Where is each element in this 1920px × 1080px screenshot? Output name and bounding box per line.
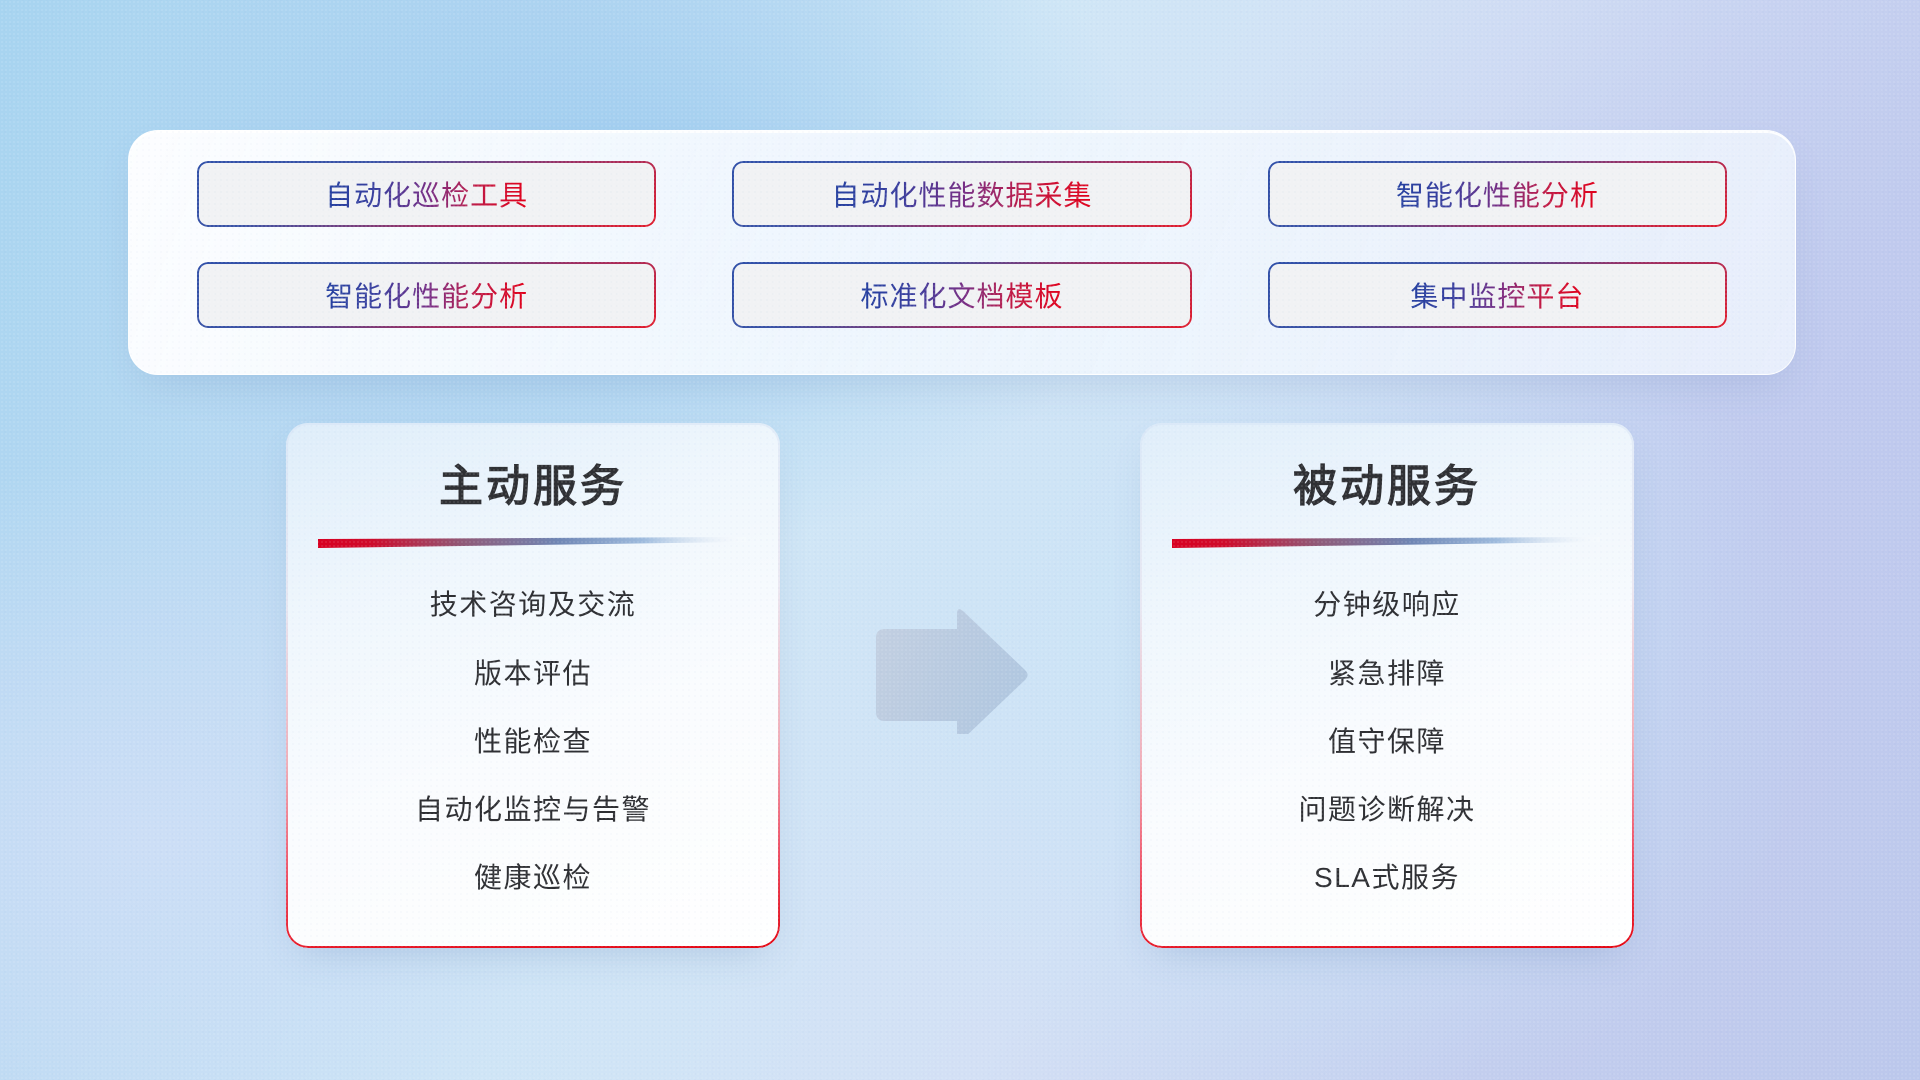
capability-pill[interactable]: 智能化性能分析 bbox=[1268, 161, 1727, 227]
service-list-item: SLA式服务 bbox=[1314, 856, 1460, 896]
service-card-passive: 被动服务 分钟级响应 紧急排障 值守保障 bbox=[1140, 423, 1634, 948]
capability-pill-label: 自动化巡检工具 bbox=[325, 174, 528, 214]
capability-pill[interactable]: 智能化性能分析 bbox=[197, 262, 656, 328]
capability-pill[interactable]: 集中监控平台 bbox=[1268, 262, 1727, 328]
capability-pill-label: 智能化性能分析 bbox=[325, 275, 528, 315]
service-list-item: 紧急排障 bbox=[1328, 652, 1446, 692]
service-list-item: 值守保障 bbox=[1328, 720, 1446, 760]
service-card-active: 主动服务 技术咨询及交流 版本评估 性能检查 bbox=[286, 423, 780, 948]
capability-pill[interactable]: 自动化巡检工具 bbox=[197, 161, 656, 227]
service-card-title: 被动服务 bbox=[1170, 463, 1604, 511]
title-divider bbox=[1172, 537, 1600, 549]
service-list-item: 技术咨询及交流 bbox=[430, 583, 637, 623]
infographic-stage: 自动化巡检工具 自动化性能数据采集 智能化性能分析 智能化性能分析 标准化文档模… bbox=[0, 0, 1920, 1080]
capability-pill[interactable]: 标准化文档模板 bbox=[732, 262, 1191, 328]
service-list-item: 健康巡检 bbox=[474, 856, 592, 896]
service-list-item: 性能检查 bbox=[474, 720, 592, 760]
capability-pill-label: 自动化性能数据采集 bbox=[831, 174, 1092, 214]
service-card-title: 主动服务 bbox=[316, 463, 750, 511]
service-item-list: 分钟级响应 紧急排障 值守保障 问题诊断解决 SLA式服务 bbox=[1170, 555, 1604, 924]
service-list-item: 版本评估 bbox=[474, 652, 592, 692]
capability-pill-label: 智能化性能分析 bbox=[1396, 174, 1599, 214]
capability-pill-label: 标准化文档模板 bbox=[860, 275, 1063, 315]
service-list-item: 分钟级响应 bbox=[1313, 583, 1461, 623]
capability-pill[interactable]: 自动化性能数据采集 bbox=[732, 161, 1191, 227]
service-list-item: 自动化监控与告警 bbox=[415, 788, 651, 828]
capability-pill-label: 集中监控平台 bbox=[1410, 275, 1584, 315]
title-divider bbox=[318, 537, 746, 549]
service-item-list: 技术咨询及交流 版本评估 性能检查 自动化监控与告警 健康巡检 bbox=[316, 555, 750, 924]
arrow-right-icon bbox=[872, 608, 1032, 734]
capabilities-panel: 自动化巡检工具 自动化性能数据采集 智能化性能分析 智能化性能分析 标准化文档模… bbox=[128, 130, 1796, 375]
service-list-item: 问题诊断解决 bbox=[1298, 788, 1475, 828]
